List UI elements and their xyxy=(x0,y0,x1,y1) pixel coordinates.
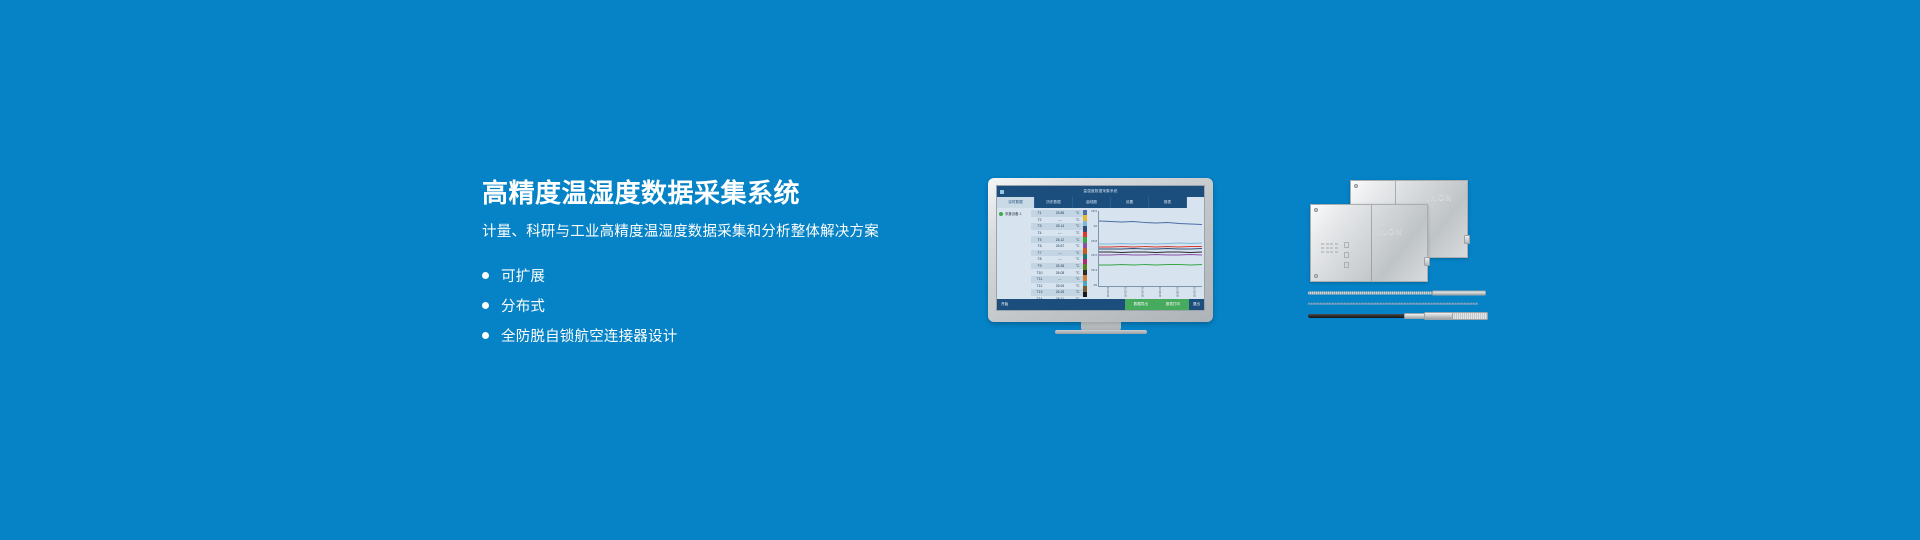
hero-copy-block: 高精度温湿度数据采集系统 计量、科研与工业高精度温湿度数据采集和分析整体解决方案… xyxy=(482,178,952,350)
x-tick-label: 10:28:00 xyxy=(1175,287,1178,298)
device-tree-panel: 采集设备-1 xyxy=(997,208,1031,299)
y-tick-label: 25.6 xyxy=(1091,254,1097,257)
table-row[interactable]: T326.14°C xyxy=(1031,223,1083,230)
y-tick-label: 26.5 xyxy=(1091,210,1097,213)
channel-id: T11 xyxy=(1032,277,1047,281)
y-tick-label: 25.3 xyxy=(1091,269,1097,272)
chart-series-line xyxy=(1099,264,1202,265)
x-tick-label: 10:22:00 xyxy=(1123,287,1126,298)
channel-unit: °C xyxy=(1073,251,1082,255)
table-row[interactable]: T8---°C xyxy=(1031,256,1083,263)
channel-value: --- xyxy=(1047,257,1073,261)
bullet-icon xyxy=(482,302,489,309)
x-tick-label: 10:20:00 xyxy=(1105,287,1108,298)
device-tree-label: 采集设备-1 xyxy=(1005,211,1022,216)
channel-unit: °C xyxy=(1073,224,1082,228)
port-icon xyxy=(1344,252,1349,258)
channel-unit: °C xyxy=(1073,284,1082,288)
tab-curve-chart[interactable]: 曲线图 xyxy=(1073,197,1111,208)
chart-series-line xyxy=(1099,243,1202,244)
channel-id: T1 xyxy=(1032,211,1047,215)
product-monitor: 温湿度数据采集系统 实时数据 历史数据 曲线图 设置 报表 采集设备-1 xyxy=(988,178,1213,322)
channel-value: --- xyxy=(1047,231,1073,235)
feature-label: 可扩展 xyxy=(501,265,545,286)
channel-value: 25.74 xyxy=(1047,310,1073,311)
start-button[interactable]: 开始 xyxy=(997,299,1012,310)
software-body: 采集设备-1 T125.85°CT2---°CT326.14°CT4---°CT… xyxy=(997,208,1204,299)
table-row[interactable]: T2---°C xyxy=(1031,217,1083,224)
connector-port xyxy=(1424,257,1430,266)
channel-table: T125.85°CT2---°CT326.14°CT4---°CT526.12°… xyxy=(1031,208,1083,299)
status-online-icon xyxy=(999,212,1003,216)
monitor-foot xyxy=(1055,330,1147,334)
y-tick-label: 26 xyxy=(1094,225,1097,228)
data-logger-front: INON xyxy=(1310,204,1428,282)
table-row[interactable]: T625.67°C xyxy=(1031,243,1083,250)
port-icon xyxy=(1344,262,1349,268)
device-tree-node[interactable]: 采集设备-1 xyxy=(999,211,1029,216)
channel-value: 25.94 xyxy=(1047,284,1073,288)
channel-unit: °C xyxy=(1073,231,1082,235)
x-tick-label: 10:26:00 xyxy=(1157,287,1160,298)
realtime-chart: 26.52625.825.625.325 10:20:0010:22:0010:… xyxy=(1087,208,1204,299)
connector-port xyxy=(1464,235,1470,244)
channel-id: T8 xyxy=(1032,257,1047,261)
channel-id: T3 xyxy=(1032,224,1047,228)
channel-value: 26.12 xyxy=(1047,238,1073,242)
chart-plot-area xyxy=(1098,211,1202,287)
window-title: 温湿度数据采集系统 xyxy=(997,189,1204,194)
table-row[interactable]: T1326.28°C xyxy=(1031,289,1083,296)
feature-list: 可扩展 分布式 全防脱自锁航空连接器设计 xyxy=(482,260,952,350)
table-row[interactable]: T11---°C xyxy=(1031,276,1083,283)
brand-logo: INON xyxy=(1377,227,1403,236)
channel-value: --- xyxy=(1047,218,1073,222)
channel-id: T10 xyxy=(1032,271,1047,275)
channel-value: 25.67 xyxy=(1047,244,1073,248)
channel-value: --- xyxy=(1047,251,1073,255)
bullet-icon xyxy=(482,272,489,279)
page-subtitle: 计量、科研与工业高精度温湿度数据采集和分析整体解决方案 xyxy=(482,223,952,242)
chart-y-axis: 26.52625.825.625.325 xyxy=(1088,210,1097,287)
channel-unit: °C xyxy=(1073,257,1082,261)
channel-unit: °C xyxy=(1073,218,1082,222)
channel-value: 26.08 xyxy=(1047,271,1073,275)
product-hero-banner: 高精度温湿度数据采集系统 计量、科研与工业高精度温湿度数据采集和分析整体解决方案… xyxy=(0,0,1920,540)
screw-icon xyxy=(1314,274,1318,278)
channel-unit: °C xyxy=(1073,264,1082,268)
tab-bar: 实时数据 历史数据 曲线图 设置 报表 xyxy=(997,197,1204,208)
table-row[interactable]: T4---°C xyxy=(1031,230,1083,237)
channel-unit: °C xyxy=(1073,238,1082,242)
feature-label: 全防脱自锁航空连接器设计 xyxy=(501,325,677,346)
channel-value: 26.28 xyxy=(1047,290,1073,294)
channel-value: 26.38 xyxy=(1047,264,1073,268)
table-row[interactable]: T1225.94°C xyxy=(1031,283,1083,290)
tab-history-data[interactable]: 历史数据 xyxy=(1035,197,1073,208)
channel-unit: °C xyxy=(1073,211,1082,215)
feature-label: 分布式 xyxy=(501,295,545,316)
channel-value: 26.14 xyxy=(1047,224,1073,228)
monitor-bezel: 温湿度数据采集系统 实时数据 历史数据 曲线图 设置 报表 采集设备-1 xyxy=(988,178,1213,322)
screw-icon xyxy=(1314,208,1318,212)
channel-id: T12 xyxy=(1032,284,1047,288)
product-devices: INON INON xyxy=(1308,178,1488,323)
channel-id: T7 xyxy=(1032,251,1047,255)
bullet-icon xyxy=(482,332,489,339)
channel-value: 25.85 xyxy=(1047,211,1073,215)
channel-unit: °C xyxy=(1073,244,1082,248)
terminal-block-grid xyxy=(1321,243,1338,253)
print-report-button[interactable]: 报表打印 xyxy=(1157,299,1189,310)
x-tick-label: 10:30:00 xyxy=(1192,287,1195,298)
channel-id: T9 xyxy=(1032,264,1047,268)
braided-sheath-probe xyxy=(1308,290,1486,295)
channel-id: T13 xyxy=(1032,290,1047,294)
table-row[interactable]: T926.38°C xyxy=(1031,263,1083,270)
tab-settings[interactable]: 设置 xyxy=(1111,197,1149,208)
chart-series-line xyxy=(1099,246,1202,247)
software-titlebar: 温湿度数据采集系统 xyxy=(997,186,1204,197)
table-row[interactable]: T7---°C xyxy=(1031,250,1083,257)
y-tick-label: 25 xyxy=(1094,284,1097,287)
screw-icon xyxy=(1354,184,1358,188)
table-row[interactable]: T526.12°C xyxy=(1031,236,1083,243)
tab-bar-filler xyxy=(1187,197,1204,208)
brand-logo: INON xyxy=(1427,193,1453,202)
list-item: 分布式 xyxy=(482,290,952,320)
port-icon xyxy=(1344,242,1349,248)
channel-unit: °C xyxy=(1073,277,1082,281)
chart-series-line xyxy=(1099,255,1202,256)
channel-id: T6 xyxy=(1032,244,1047,248)
chart-lines-svg xyxy=(1099,211,1202,286)
channel-value: --- xyxy=(1047,277,1073,281)
channel-id: T5 xyxy=(1032,238,1047,242)
footer-spacer xyxy=(1012,299,1125,310)
tab-report[interactable]: 报表 xyxy=(1149,197,1187,208)
y-tick-label: 25.8 xyxy=(1091,240,1097,243)
list-item: 全防脱自锁航空连接器设计 xyxy=(482,320,952,350)
list-item: 可扩展 xyxy=(482,260,952,290)
chart-series-line xyxy=(1099,221,1202,225)
channel-id: T2 xyxy=(1032,218,1047,222)
channel-unit: °C xyxy=(1073,310,1082,311)
thin-blue-cable-probe xyxy=(1308,302,1478,305)
channel-id: T4 xyxy=(1032,231,1047,235)
tab-realtime-data[interactable]: 实时数据 xyxy=(997,197,1035,208)
table-row[interactable]: T1026.08°C xyxy=(1031,269,1083,276)
software-footer: 开始 数据导出 报表打印 退出 xyxy=(997,299,1204,310)
channel-unit: °C xyxy=(1073,290,1082,294)
export-data-button[interactable]: 数据导出 xyxy=(1125,299,1157,310)
black-cable-connector-probe xyxy=(1308,312,1488,320)
monitor-screen: 温湿度数据采集系统 实时数据 历史数据 曲线图 设置 报表 采集设备-1 xyxy=(996,185,1205,311)
chart-x-axis: 10:20:0010:22:0010:24:0010:26:0010:28:00… xyxy=(1098,287,1202,298)
table-row[interactable]: T125.85°C xyxy=(1031,210,1083,217)
chart-series-line xyxy=(1099,249,1202,250)
exit-button[interactable]: 退出 xyxy=(1189,299,1204,310)
channel-unit: °C xyxy=(1073,271,1082,275)
channel-id: T16 xyxy=(1032,310,1047,311)
x-tick-label: 10:24:00 xyxy=(1140,287,1143,298)
page-title: 高精度温湿度数据采集系统 xyxy=(482,178,952,209)
